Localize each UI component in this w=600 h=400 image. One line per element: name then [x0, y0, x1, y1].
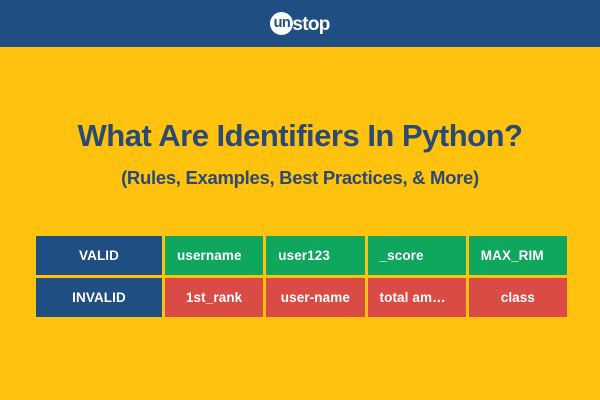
valid-example-cell: user123: [266, 236, 364, 275]
valid-example-cell: _score: [368, 236, 466, 275]
headline-block: What Are Identifiers In Python? (Rules, …: [0, 118, 600, 189]
invalid-example-cell: class: [469, 278, 567, 317]
valid-example-cell: MAX_RIM: [469, 236, 567, 275]
row-label-valid: VALID: [36, 236, 162, 275]
identifier-examples-table: VALID username user123 _score MAX_RIM IN…: [33, 233, 570, 320]
unstop-logo[interactable]: un stop: [270, 11, 329, 37]
unstop-circle-mark-icon: un: [270, 12, 293, 35]
unstop-mark-label: un: [274, 16, 291, 31]
unstop-wordmark-label: stop: [292, 15, 329, 34]
brand-bar: un stop: [0, 0, 600, 47]
row-label-invalid: INVALID: [36, 278, 162, 317]
valid-example-cell: username: [165, 236, 263, 275]
table-row: VALID username user123 _score MAX_RIM: [36, 236, 567, 275]
infographic-canvas: un stop What Are Identifiers In Python? …: [0, 0, 600, 400]
page-title: What Are Identifiers In Python?: [0, 118, 600, 154]
page-subtitle: (Rules, Examples, Best Practices, & More…: [0, 167, 600, 189]
invalid-example-cell: user-name: [266, 278, 364, 317]
table-row: INVALID 1st_rank user-name total amount …: [36, 278, 567, 317]
invalid-example-cell: total amount: [368, 278, 466, 317]
invalid-example-cell: 1st_rank: [165, 278, 263, 317]
